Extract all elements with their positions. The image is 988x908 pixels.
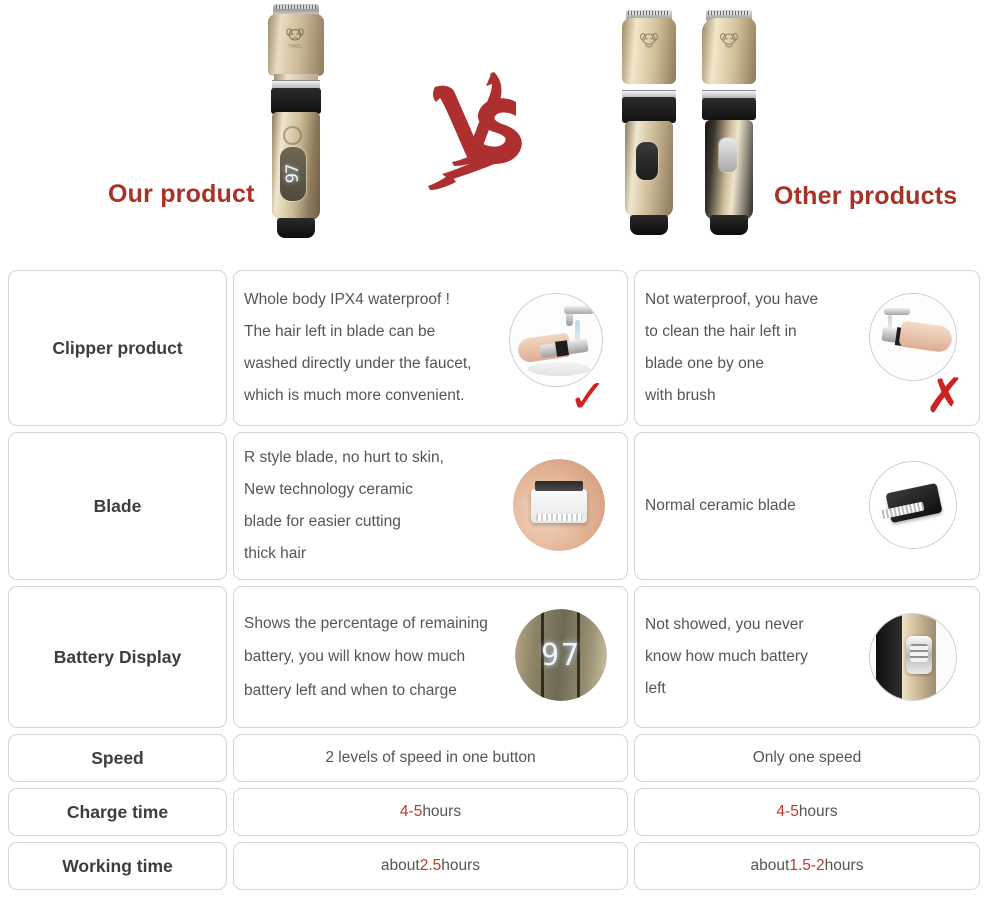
our-product-cell: 2 levels of speed in one button	[233, 734, 628, 782]
other-products-cell: Not waterproof, you have to clean the ha…	[634, 270, 980, 426]
desc-line: with brush	[645, 380, 818, 412]
other-clipper-1-grip	[622, 97, 676, 123]
desc-line: blade for easier cutting	[244, 506, 444, 538]
feature-name-cell: Speed	[8, 734, 227, 782]
value-suffix: hours	[441, 857, 480, 875]
dog-logo-icon	[637, 30, 661, 52]
desc-line: left	[645, 673, 808, 705]
our-description: R style blade, no hurt to skin, New tech…	[244, 442, 444, 569]
other-products-cell: 4-5 hours	[634, 788, 980, 836]
feature-name-cell: Battery Display	[8, 586, 227, 728]
their-description: Not showed, you never know how much batt…	[645, 609, 808, 704]
black-normal-blade-photo	[869, 461, 957, 549]
feature-name-cell: Working time	[8, 842, 227, 890]
svg-text:TWIEL: TWIEL	[288, 44, 302, 49]
feature-label: Battery Display	[54, 647, 181, 668]
desc-line: Normal ceramic blade	[645, 490, 796, 522]
other-clipper-2-button	[719, 138, 737, 172]
feature-label: Blade	[94, 496, 142, 517]
feature-label: Speed	[91, 748, 144, 769]
their-description: Not waterproof, you have to clean the ha…	[645, 284, 818, 411]
our-value: 4-5 hours	[234, 789, 627, 835]
feature-name-cell: Blade	[8, 432, 227, 580]
our-product-cell: R style blade, no hurt to skin, New tech…	[233, 432, 628, 580]
faucet-washing-clipper-photo	[509, 293, 603, 387]
our-product-cell: Whole body IPX4 waterproof ! The hair le…	[233, 270, 628, 426]
other-products-cell: about 1.5-2 hours	[634, 842, 980, 890]
desc-line: Shows the percentage of remaining	[244, 607, 488, 640]
other-clipper-1	[620, 10, 678, 235]
clipper-base	[277, 218, 315, 238]
our-product-clipper-image: TWIEL 97	[264, 4, 328, 236]
table-row: Clipper product Whole body IPX4 waterpro…	[8, 270, 980, 426]
feature-name-cell: Charge time	[8, 788, 227, 836]
clipper-battery-value: 97	[283, 165, 303, 183]
desc-line: New technology ceramic	[244, 474, 444, 506]
desc-line: battery, you will know how much	[244, 640, 488, 673]
feature-name-cell: Clipper product	[8, 270, 227, 426]
our-value: 2 levels of speed in one button	[234, 735, 627, 781]
desc-line: Not waterproof, you have	[645, 284, 818, 316]
their-value: Only one speed	[635, 735, 979, 781]
our-description: Whole body IPX4 waterproof ! The hair le…	[244, 284, 471, 411]
feature-label: Working time	[62, 856, 173, 877]
their-description: Normal ceramic blade	[645, 490, 796, 522]
led-photo-value: 97	[515, 609, 607, 701]
table-row: Speed 2 levels of speed in one button On…	[8, 734, 980, 782]
hero-banner: TWIEL 97	[0, 0, 988, 258]
other-clipper-2	[700, 10, 758, 235]
comparison-table: Clipper product Whole body IPX4 waterpro…	[8, 270, 980, 896]
table-row: Working time about 2.5 hours about 1.5-2…	[8, 842, 980, 890]
white-ceramic-blade-in-hand-photo	[513, 459, 605, 551]
other-products-cell: Normal ceramic blade	[634, 432, 980, 580]
feature-label: Clipper product	[52, 338, 182, 359]
value-suffix: hours	[799, 803, 838, 821]
chrome-button-no-display-photo	[869, 613, 957, 701]
table-row: Charge time 4-5 hours 4-5 hours	[8, 788, 980, 836]
value-suffix: hours	[422, 803, 461, 821]
their-value: about 1.5-2 hours	[635, 843, 979, 889]
value-highlight: 4-5	[400, 803, 422, 821]
desc-line: washed directly under the faucet,	[244, 348, 471, 380]
desc-line: Whole body IPX4 waterproof !	[244, 284, 471, 316]
feature-label: Charge time	[67, 802, 168, 823]
our-description: Shows the percentage of remaining batter…	[244, 607, 488, 707]
desc-line: The hair left in blade can be	[244, 316, 471, 348]
other-products-clipper-images	[616, 10, 786, 235]
table-row: Battery Display Shows the percentage of …	[8, 586, 980, 728]
their-value: 4-5 hours	[635, 789, 979, 835]
value-suffix: Only one speed	[753, 749, 862, 767]
value-prefix: about	[751, 857, 790, 875]
other-products-cell: Only one speed	[634, 734, 980, 782]
dog-logo-icon: TWIEL	[282, 26, 308, 50]
value-highlight: 4-5	[776, 803, 798, 821]
clipper-power-button-icon	[285, 128, 300, 143]
desc-line: Not showed, you never	[645, 609, 808, 641]
dog-logo-icon	[717, 30, 741, 52]
desc-line: R style blade, no hurt to skin,	[244, 442, 444, 474]
other-products-label: Other products	[774, 182, 957, 211]
our-value: about 2.5 hours	[234, 843, 627, 889]
value-prefix: about	[381, 857, 420, 875]
desc-line: battery left and when to charge	[244, 674, 488, 707]
desc-line: know how much battery	[645, 641, 808, 673]
our-product-cell: 4-5 hours	[233, 788, 628, 836]
versus-mark-icon	[420, 62, 550, 202]
clipper-led-screen: 97	[280, 147, 306, 201]
our-product-cell: about 2.5 hours	[233, 842, 628, 890]
other-clipper-2-base	[710, 215, 748, 235]
value-suffix: hours	[825, 857, 864, 875]
our-product-cell: Shows the percentage of remaining batter…	[233, 586, 628, 728]
our-product-label: Our product	[108, 180, 255, 209]
value-suffix: 2 levels of speed in one button	[325, 749, 535, 767]
table-row: Blade R style blade, no hurt to skin, Ne…	[8, 432, 980, 580]
value-highlight: 1.5-2	[789, 857, 824, 875]
other-clipper-2-grip	[702, 98, 756, 120]
desc-line: which is much more convenient.	[244, 380, 471, 412]
other-products-cell: Not showed, you never know how much batt…	[634, 586, 980, 728]
led-battery-display-photo: 97	[515, 609, 607, 701]
other-clipper-1-button	[636, 142, 658, 180]
desc-line: thick hair	[244, 538, 444, 570]
desc-line: blade one by one	[645, 348, 818, 380]
value-highlight: 2.5	[420, 857, 442, 875]
clipper-grip-band	[271, 88, 321, 114]
brush-cleaning-clipper-photo	[869, 293, 957, 381]
desc-line: to clean the hair left in	[645, 316, 818, 348]
other-clipper-1-base	[630, 215, 668, 235]
